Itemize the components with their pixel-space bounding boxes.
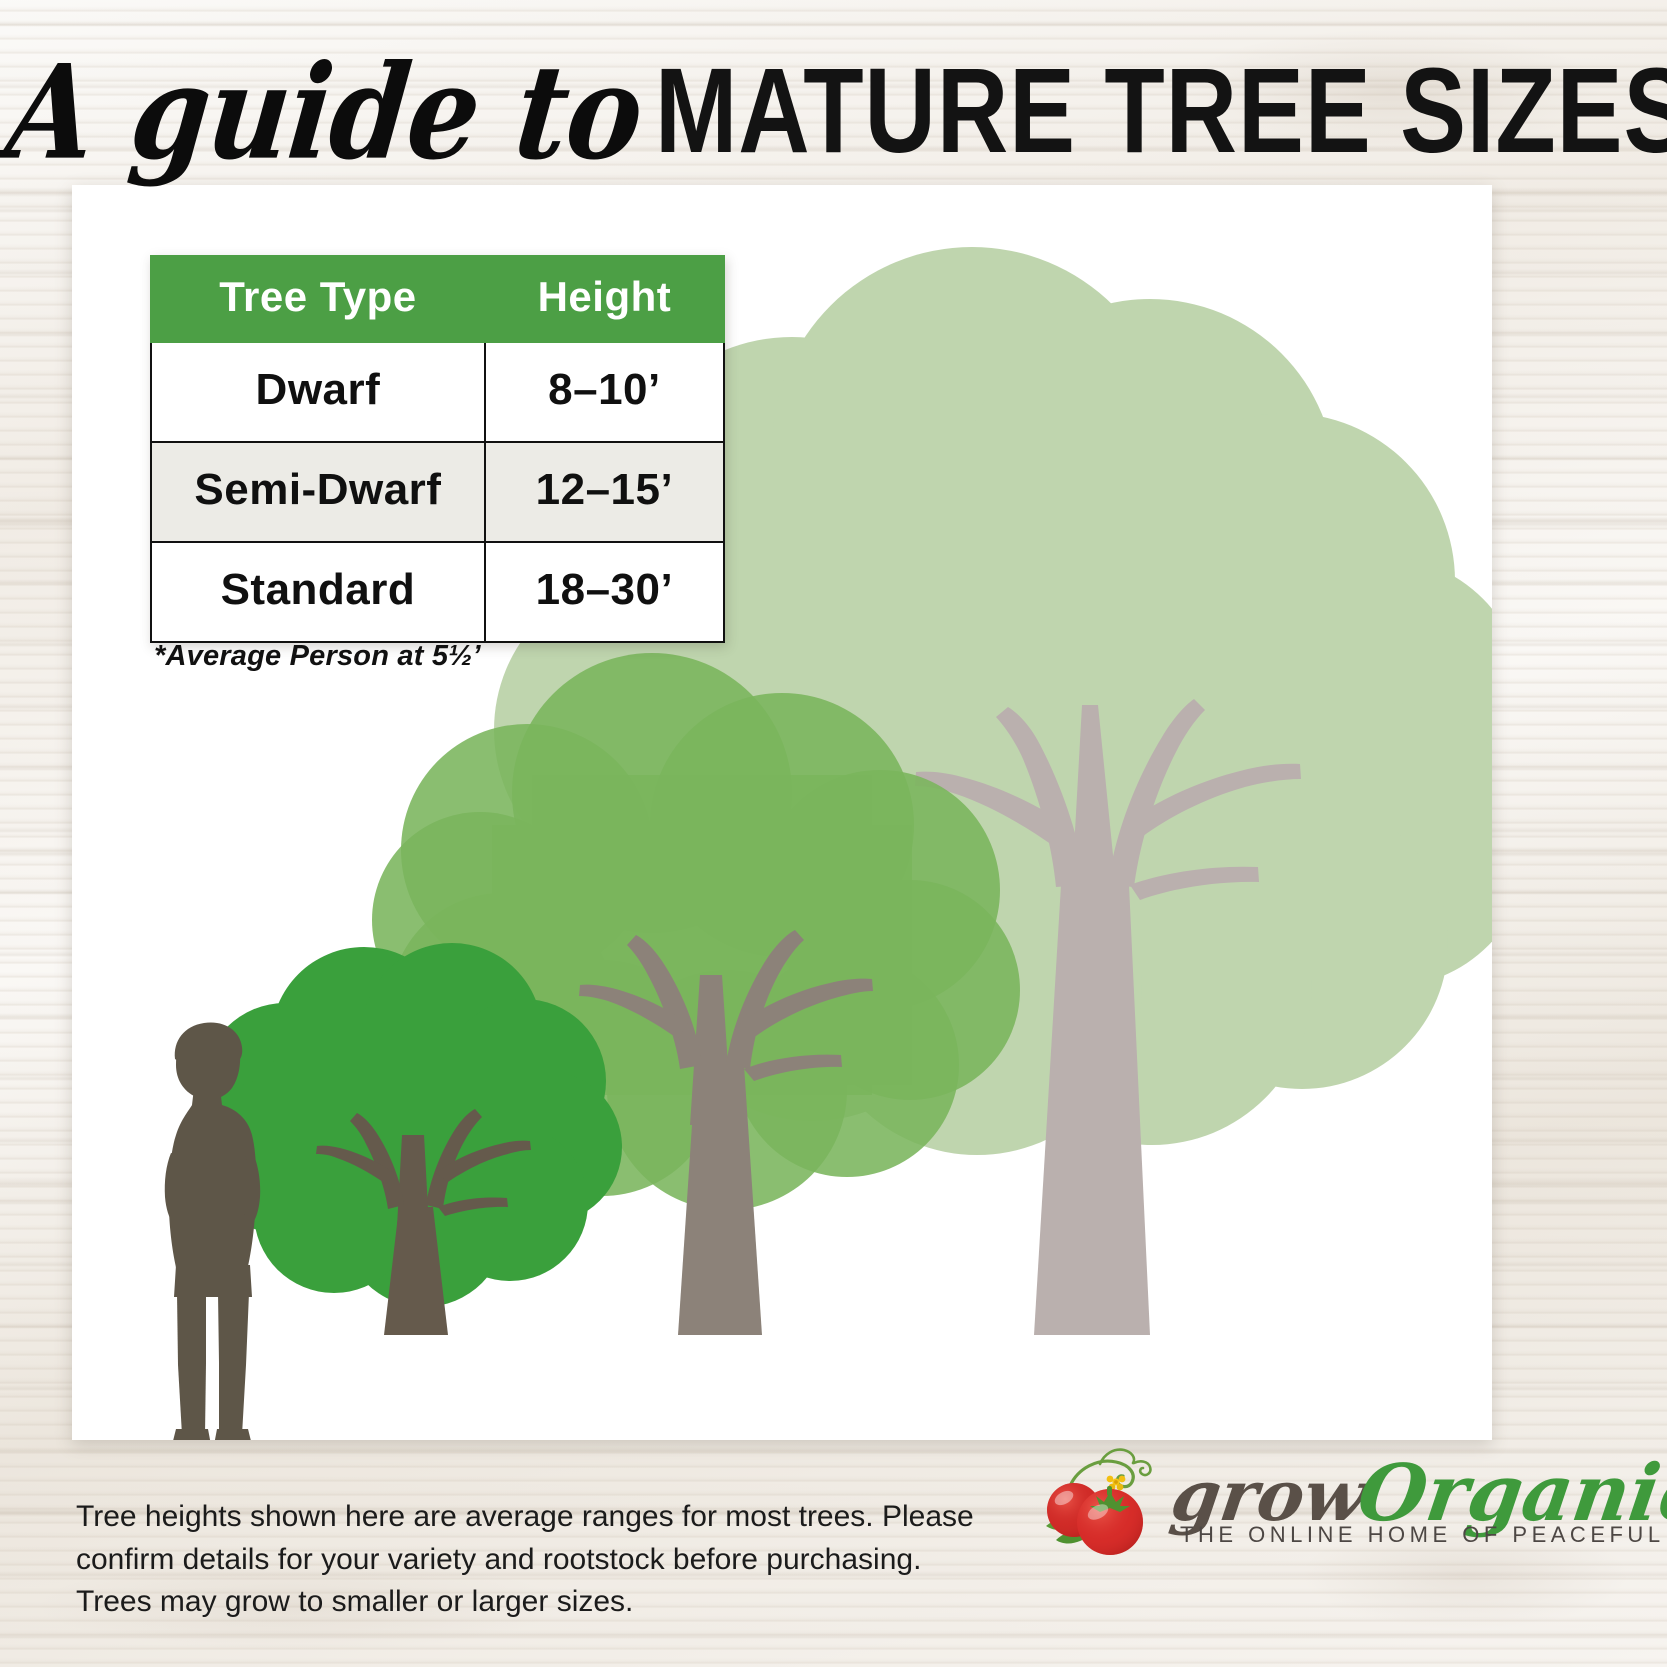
infographic-page: A guide toMATURE TREE SIZES xyxy=(0,0,1667,1667)
cell-tree-type: Dwarf xyxy=(151,342,485,442)
disclaimer-text: Tree heights shown here are average rang… xyxy=(76,1496,976,1624)
column-header-height: Height xyxy=(485,256,724,342)
table-row: Semi-Dwarf 12–15’ xyxy=(151,442,724,542)
table-footnote: *Average Person at 5½’ xyxy=(154,640,481,673)
cell-height: 8–10’ xyxy=(485,342,724,442)
cell-tree-type: Semi-Dwarf xyxy=(151,442,485,542)
tree-size-table: Tree Type Height Dwarf 8–10’ Semi-Dwarf … xyxy=(150,255,725,643)
table-header-row: Tree Type Height xyxy=(151,256,724,342)
content-card: Tree Type Height Dwarf 8–10’ Semi-Dwarf … xyxy=(72,185,1492,1440)
column-header-tree-type: Tree Type xyxy=(151,256,485,342)
cell-tree-type: Standard xyxy=(151,542,485,642)
title-bold-part: MATURE TREE SIZES xyxy=(655,43,1667,181)
page-title: A guide toMATURE TREE SIZES xyxy=(0,58,1667,189)
title-script-part: A guide to xyxy=(0,37,649,189)
cell-height: 18–30’ xyxy=(485,542,724,642)
table-row: Standard 18–30’ xyxy=(151,542,724,642)
tomato-illustration xyxy=(1012,1430,1182,1560)
table-row: Dwarf 8–10’ xyxy=(151,342,724,442)
logo-tagline: THE ONLINE HOME OF PEACEFUL VALLEY xyxy=(1180,1522,1667,1548)
grow-organic-logo[interactable]: growOrganic.COM THE ONLINE HOME OF PEACE… xyxy=(1012,1430,1552,1580)
cell-height: 12–15’ xyxy=(485,442,724,542)
